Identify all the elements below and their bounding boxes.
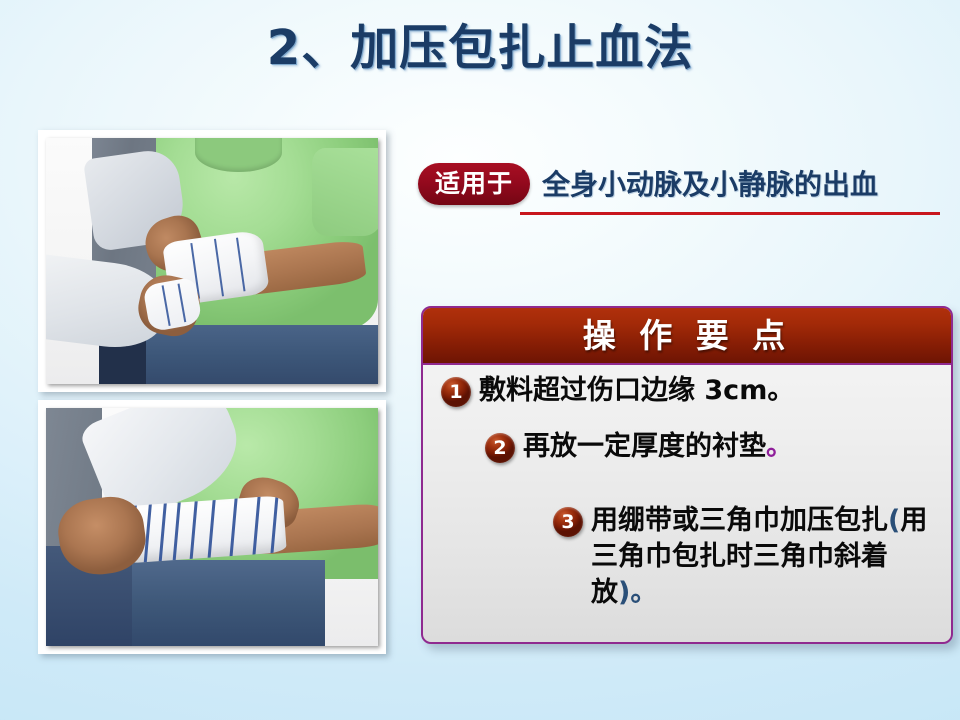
bandage-stripe [252, 495, 261, 563]
key-point-text: 敷料超过伤口边缘 3cm。 [479, 373, 794, 409]
bandage-stripe [207, 495, 216, 564]
applies-to-badge: 适用于 [418, 163, 530, 205]
key-point-text-part: 敷料超过伤口边缘 3cm。 [479, 375, 794, 406]
photo-top-image [46, 138, 378, 384]
bandage-stripe [158, 497, 167, 564]
key-points-body: 1 敷料超过伤口边缘 3cm。 2 再放一定厚度的衬垫。 3 用绷带或三角巾加压… [423, 365, 951, 644]
key-points-panel: 操 作 要 点 1 敷料超过伤口边缘 3cm。 2 再放一定厚度的衬垫。 3 用… [421, 306, 953, 644]
bandage-stripe [229, 495, 238, 564]
key-point-number-badge: 2 [485, 433, 515, 463]
bandage-stripe [161, 285, 170, 326]
key-point-text-part: 用绷带或三角巾加压包扎 [591, 505, 888, 536]
bandage-stripe [172, 496, 181, 564]
key-point-text: 用绷带或三角巾加压包扎(用三角巾包扎时三角巾斜着放)。 [591, 503, 943, 611]
key-point-item: 1 敷料超过伤口边缘 3cm。 [441, 373, 931, 409]
applies-to-row: 适用于 全身小动脉及小静脉的出血 [418, 163, 948, 209]
key-point-text-part: 再放一定厚度的衬垫 [523, 431, 766, 462]
key-point-item: 2 再放一定厚度的衬垫。 [485, 429, 945, 465]
shirt-sleeve [312, 148, 378, 237]
key-points-header: 操 作 要 点 [423, 308, 951, 365]
page-title: 2、加压包扎止血法 [0, 22, 960, 75]
bandage-stripe [213, 239, 223, 298]
applies-to-description: 全身小动脉及小静脉的出血 [542, 165, 878, 205]
key-point-item: 3 用绷带或三角巾加压包扎(用三角巾包扎时三角巾斜着放)。 [553, 503, 943, 611]
key-point-number-badge: 3 [553, 507, 583, 537]
bandage-stripe [189, 495, 198, 564]
photo-bottom-image [46, 408, 378, 646]
key-point-text-part: 。 [630, 577, 657, 608]
slide-canvas: 2、加压包扎止血法 [0, 0, 960, 720]
photo-bandaging-step1 [38, 130, 386, 392]
key-point-text: 再放一定厚度的衬垫。 [523, 429, 793, 465]
bandage-stripe [177, 283, 186, 322]
key-point-text-part: ) [618, 577, 630, 608]
key-point-text-part: 。 [766, 431, 793, 462]
photo-bandaging-step2 [38, 400, 386, 654]
key-point-text-part: ( [888, 505, 900, 536]
bandage-stripe [235, 238, 244, 291]
applies-to-underline [520, 212, 940, 215]
patient-jeans [119, 560, 325, 646]
key-point-number-badge: 1 [441, 377, 471, 407]
